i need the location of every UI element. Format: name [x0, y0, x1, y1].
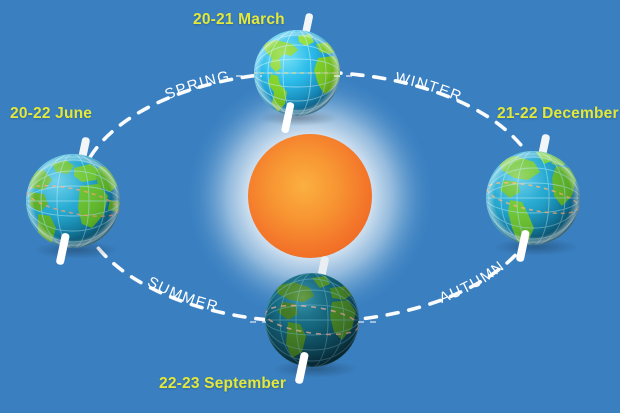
date-label-june: 20-22 June — [10, 106, 92, 122]
date-label-september: 22-23 September — [159, 376, 286, 392]
diagram-canvas: SPRING WINTER SUMMER AUTUMN — [0, 0, 620, 413]
globe-rimlight — [26, 154, 120, 248]
globe-shading — [265, 273, 359, 367]
sun-body — [248, 134, 372, 258]
date-label-march: 20-21 March — [193, 12, 285, 28]
seasons-diagram: SPRING WINTER SUMMER AUTUMN 20-21 March … — [0, 0, 620, 413]
globe-rimlight — [486, 151, 580, 245]
date-label-december: 21-22 December — [497, 106, 619, 122]
globe-rimlight — [254, 30, 340, 116]
